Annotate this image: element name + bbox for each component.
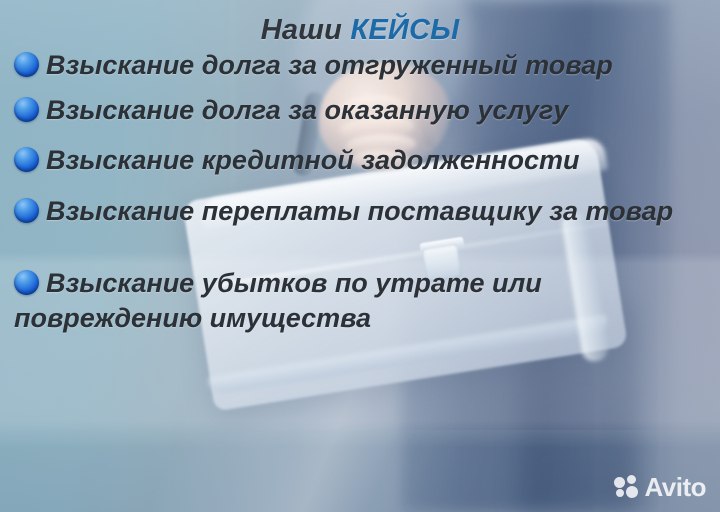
blue-bullet-icon (14, 270, 39, 295)
list-item: Взыскание убытков по утрате или поврежде… (0, 266, 720, 335)
case-list: Взыскание долга за отгруженный товар Взы… (0, 48, 720, 343)
page-title: Наши КЕЙСЫ (0, 14, 720, 47)
list-item: Взыскание долга за отгруженный товар (0, 48, 720, 83)
poster-image: Наши КЕЙСЫ Взыскание долга за отгруженны… (0, 0, 720, 512)
blue-bullet-icon (14, 147, 39, 172)
list-item-label: Взыскание долга за отгруженный товар (46, 50, 613, 80)
blue-bullet-icon (14, 52, 39, 77)
list-item: Взыскание долга за оказанную услугу (0, 93, 720, 128)
list-item: Взыскание переплаты поставщику за товар (0, 194, 720, 229)
page-title-accent: КЕЙСЫ (350, 14, 459, 46)
list-item-label: Взыскание долга за оказанную услугу (46, 95, 568, 125)
avito-watermark: Avito (614, 474, 706, 500)
page-title-lead: Наши (261, 14, 351, 46)
avito-dots-icon (614, 475, 640, 499)
list-item-label: Взыскание кредитной задолженности (46, 145, 580, 175)
blue-bullet-icon (14, 198, 39, 223)
avito-watermark-label: Avito (644, 474, 706, 500)
poster-content: Наши КЕЙСЫ Взыскание долга за отгруженны… (0, 0, 720, 512)
list-item-label: Взыскание переплаты поставщику за товар (46, 196, 673, 226)
list-item: Взыскание кредитной задолженности (0, 143, 720, 178)
blue-bullet-icon (14, 97, 39, 122)
list-item-label: Взыскание убытков по утрате или поврежде… (14, 268, 542, 333)
